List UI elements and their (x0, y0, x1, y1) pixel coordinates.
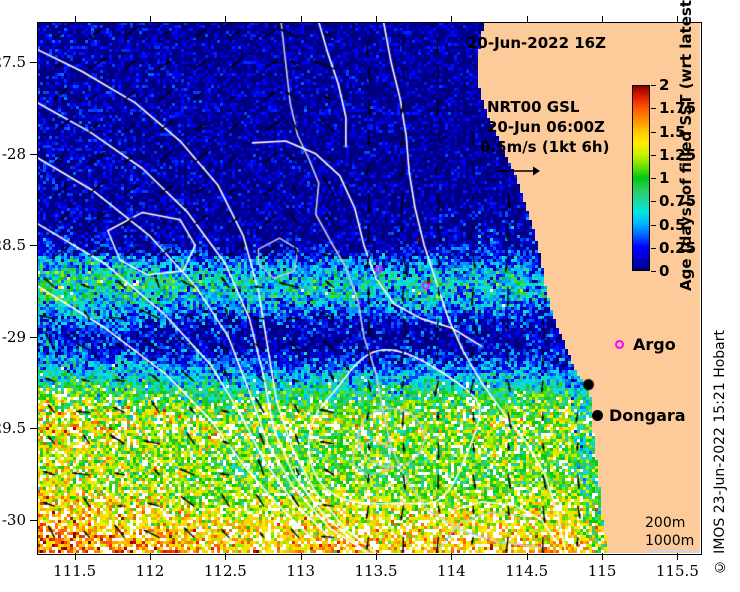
colorbar-tick (651, 108, 656, 109)
colorbar-tick-label: 0 (659, 262, 669, 280)
colorbar-tick (651, 225, 656, 226)
colorbar[interactable]: 21.751.51.2510.750.50.250 (632, 85, 650, 271)
x-tick (451, 553, 452, 560)
x-tick-label: 115 (588, 562, 617, 580)
y-tick (30, 520, 37, 521)
x-tick-top (376, 16, 377, 22)
colorbar-tick (651, 85, 656, 86)
x-tick-top (225, 16, 226, 22)
x-tick-label: 112.5 (204, 562, 247, 580)
x-tick-top (301, 16, 302, 22)
x-tick (150, 553, 151, 560)
x-tick (75, 553, 76, 560)
colorbar-tick-label: 1 (659, 169, 669, 187)
colorbar-tick (651, 271, 656, 272)
model-time-annotation: 20-Jun 06:00Z (487, 118, 605, 136)
colorbar-tick (651, 248, 656, 249)
depth-contour-labels: 200m 1000m (645, 514, 694, 550)
y-tick (30, 337, 37, 338)
x-tick (602, 553, 603, 560)
colorbar-gradient (632, 85, 650, 271)
y-tick-label: -30 (2, 511, 26, 529)
y-tick-label: -28.5 (0, 236, 26, 254)
colorbar-tick (651, 155, 656, 156)
dongara-marker-icon (592, 410, 603, 421)
y-tick-label: -29.5 (0, 419, 26, 437)
vector-scale-annotation: 0.5m/s (1kt 6h) (480, 138, 609, 156)
x-tick-top (150, 16, 151, 22)
model-name-annotation: NRT00 GSL (487, 98, 579, 116)
map-date-annotation: 20-Jun-2022 16Z (467, 34, 606, 52)
y-tick (30, 154, 37, 155)
figure-canvas: 20-Jun-2022 16Z NRT00 GSL 20-Jun 06:00Z … (0, 0, 740, 592)
argo-legend-entry: Argo (615, 335, 676, 354)
map-overlay-layer (37, 22, 700, 553)
right-arrow-icon (495, 164, 541, 178)
x-tick-top (602, 16, 603, 22)
dongara-legend-entry: Dongara (592, 406, 686, 425)
map-plot-area[interactable]: 20-Jun-2022 16Z NRT00 GSL 20-Jun 06:00Z … (37, 22, 700, 553)
x-tick (301, 553, 302, 560)
depth-contour-rule (646, 550, 700, 552)
argo-legend-label: Argo (633, 335, 676, 354)
x-tick-label: 113 (286, 562, 315, 580)
y-tick-label: -28 (2, 145, 26, 163)
x-tick (677, 553, 678, 560)
x-tick-label: 114 (437, 562, 466, 580)
x-tick-label: 113.5 (355, 562, 398, 580)
y-tick (30, 245, 37, 246)
x-tick-top (75, 16, 76, 22)
colorbar-tick (651, 132, 656, 133)
copyright-credit: © IMOS 23-Jun-2022 15:21 Hobart (712, 330, 728, 574)
x-tick-label: 112 (136, 562, 165, 580)
y-tick-label: -27.5 (0, 53, 26, 71)
colorbar-title: Age (days) of filled SST (wrt latest) (677, 31, 701, 291)
y-tick (30, 62, 37, 63)
y-tick (30, 428, 37, 429)
x-tick-label: 115.5 (656, 562, 699, 580)
colorbar-tick (651, 201, 656, 202)
dongara-legend-label: Dongara (609, 406, 686, 425)
argo-marker-icon (615, 340, 624, 349)
x-tick (527, 553, 528, 560)
x-tick-top (527, 16, 528, 22)
x-tick-top (451, 16, 452, 22)
depth-label-200m: 200m (645, 514, 694, 532)
x-tick (376, 553, 377, 560)
x-tick (225, 553, 226, 560)
x-tick-label: 114.5 (505, 562, 548, 580)
colorbar-tick-label: 2 (659, 76, 669, 94)
colorbar-tick (651, 178, 656, 179)
depth-label-1000m: 1000m (645, 532, 694, 550)
x-tick-label: 111.5 (53, 562, 96, 580)
y-tick-label: -29 (2, 328, 26, 346)
